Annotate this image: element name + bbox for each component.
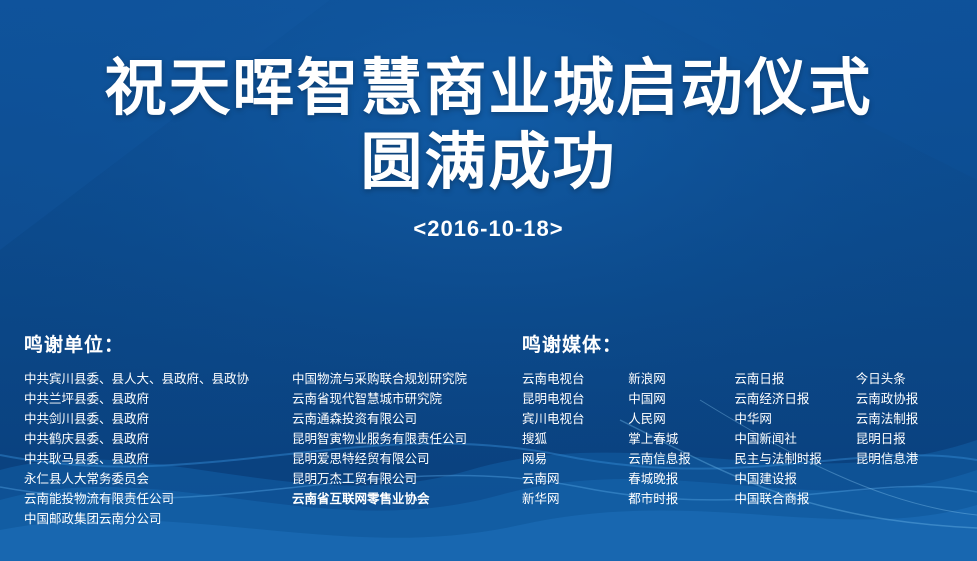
list-item: 昆明电视台 [522,389,628,409]
list-item: 昆明信息港 [856,449,962,469]
list-item: 云南电视台 [522,369,628,389]
thanks-units-block: 鸣谢单位： 中共宾川县委、县人大、县政府、县政协 中共兰坪县委、县政府 中共剑川… [24,330,494,529]
list-item: 昆明日报 [856,429,962,449]
list-item: 永仁县人大常务委员会 [24,469,292,489]
list-item: 中国联合商报 [734,489,855,509]
list-item: 云南省互联网零售业协会 [292,489,492,509]
list-item: 中共兰坪县委、县政府 [24,389,292,409]
list-item: 云南省现代智慧城市研究院 [292,389,492,409]
list-item: 今日头条 [856,369,962,389]
thanks-media-block: 鸣谢媒体： 云南电视台 昆明电视台 宾川电视台 搜狐 网易 云南网 新华网 新浪… [522,330,962,509]
list-item: 新浪网 [628,369,734,389]
list-item: 中国物流与采购联合规划研究院 [292,369,492,389]
list-item: 掌上春城 [628,429,734,449]
list-item: 中国新闻社 [734,429,855,449]
list-item: 云南经济日报 [734,389,855,409]
list-item: 云南信息报 [628,449,734,469]
list-item: 云南法制报 [856,409,962,429]
list-item: 春城晚报 [628,469,734,489]
list-item: 云南通森投资有限公司 [292,409,492,429]
thanks-media-column-1: 云南电视台 昆明电视台 宾川电视台 搜狐 网易 云南网 新华网 [522,369,628,509]
list-item: 网易 [522,449,628,469]
list-item: 云南网 [522,469,628,489]
list-item: 搜狐 [522,429,628,449]
thanks-units-heading: 鸣谢单位： [24,330,494,357]
list-item: 云南能投物流有限责任公司 [24,489,292,509]
list-item: 人民网 [628,409,734,429]
list-item: 云南日报 [734,369,855,389]
thanks-media-column-2: 新浪网 中国网 人民网 掌上春城 云南信息报 春城晚报 都市时报 [628,369,734,509]
list-item: 中共耿马县委、县政府 [24,449,292,469]
list-item: 民主与法制时报 [734,449,855,469]
list-item: 中共宾川县委、县人大、县政府、县政协 [24,369,292,389]
list-item: 云南政协报 [856,389,962,409]
list-item: 昆明智寅物业服务有限责任公司 [292,429,492,449]
list-item: 昆明爱思特经贸有限公司 [292,449,492,469]
list-item: 中共鹤庆县委、县政府 [24,429,292,449]
list-item: 中国建设报 [734,469,855,489]
list-item: 都市时报 [628,489,734,509]
list-item: 中共剑川县委、县政府 [24,409,292,429]
thanks-units-column-2: 中国物流与采购联合规划研究院 云南省现代智慧城市研究院 云南通森投资有限公司 昆… [292,369,492,529]
list-item: 宾川电视台 [522,409,628,429]
credits-section: 鸣谢单位： 中共宾川县委、县人大、县政府、县政协 中共兰坪县委、县政府 中共剑川… [0,330,977,550]
poster-title-block: 祝天晖智慧商业城启动仪式 圆满成功 <2016-10-18> [0,52,977,242]
list-item: 中国网 [628,389,734,409]
list-item: 新华网 [522,489,628,509]
page-title-line-1: 祝天晖智慧商业城启动仪式 [0,52,977,126]
thanks-media-heading: 鸣谢媒体： [522,330,962,357]
event-date: <2016-10-18> [0,216,977,242]
thanks-media-column-3: 云南日报 云南经济日报 中华网 中国新闻社 民主与法制时报 中国建设报 中国联合… [734,369,855,509]
poster-canvas: 祝天晖智慧商业城启动仪式 圆满成功 <2016-10-18> 鸣谢单位： 中共宾… [0,0,977,561]
thanks-media-column-4: 今日头条 云南政协报 云南法制报 昆明日报 昆明信息港 [856,369,962,509]
list-item: 昆明万杰工贸有限公司 [292,469,492,489]
thanks-units-column-1: 中共宾川县委、县人大、县政府、县政协 中共兰坪县委、县政府 中共剑川县委、县政府… [24,369,292,529]
list-item: 中华网 [734,409,855,429]
page-title-line-2: 圆满成功 [0,126,977,200]
list-item: 中国邮政集团云南分公司 [24,509,292,529]
